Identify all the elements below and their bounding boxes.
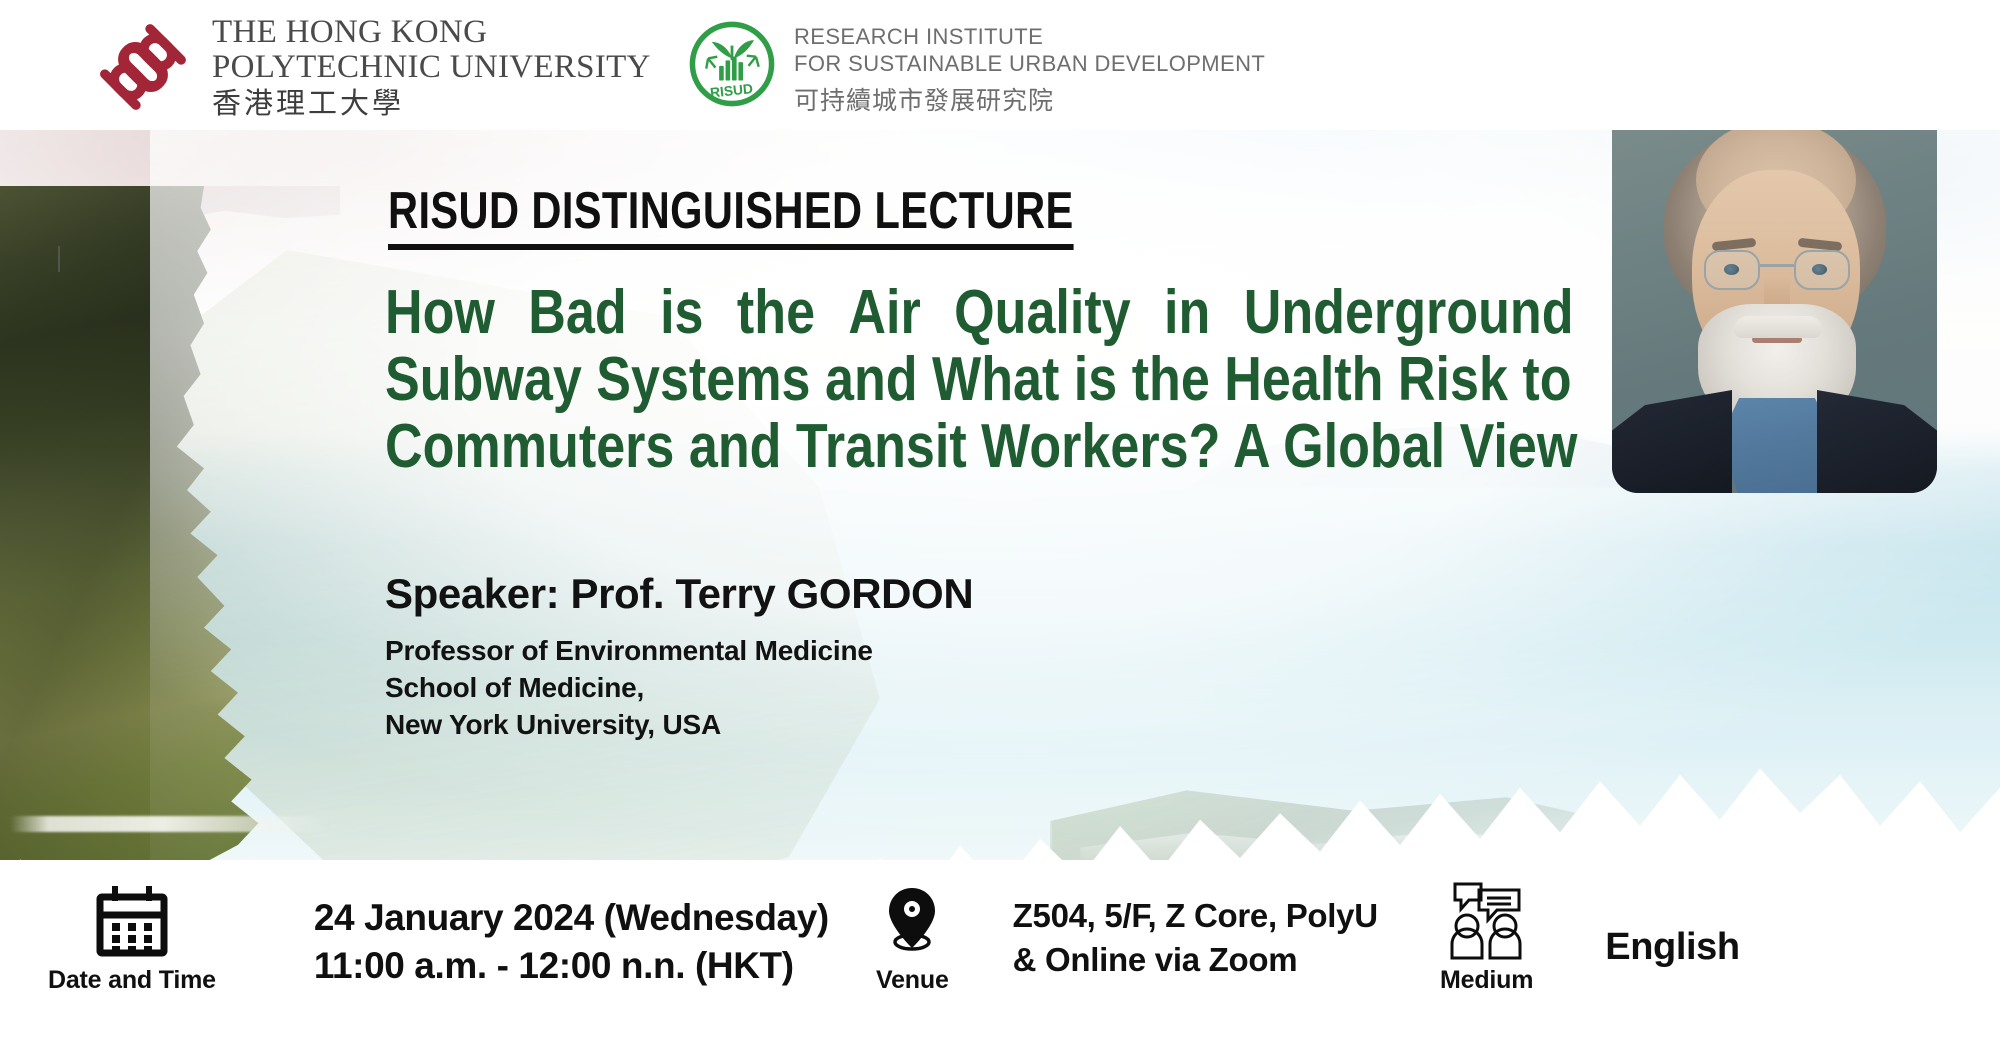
lecture-title-line-3: Commuters and Transit Workers? A Global … <box>385 414 1385 481</box>
medium-label: Medium <box>1440 966 1533 995</box>
title-word: the <box>737 280 815 347</box>
portrait-eyeglass-left <box>1704 250 1760 290</box>
map-pin-icon <box>880 882 944 960</box>
portrait-jacket-right <box>1817 390 1937 493</box>
speaker-affiliation-line-2: School of Medicine, <box>385 670 873 707</box>
risud-wordmark: RESEARCH INSTITUTE FOR SUSTAINABLE URBAN… <box>794 18 1265 117</box>
venue-value: Z504, 5/F, Z Core, PolyU & Online via Zo… <box>1013 894 1378 981</box>
portrait-jacket-left <box>1612 390 1732 493</box>
title-word: Underground <box>1244 280 1574 347</box>
polyu-name-line1: THE HONG KONG <box>212 16 651 49</box>
polyu-wordmark: THE HONG KONG POLYTECHNIC UNIVERSITY 香港理… <box>212 16 651 118</box>
speaker-portrait-photo <box>1612 98 1937 493</box>
portrait-moustache <box>1734 316 1822 338</box>
two-people-speech-icon <box>1443 878 1531 960</box>
venue-line-2: & Online via Zoom <box>1013 938 1378 982</box>
header-band: THE HONG KONG POLYTECHNIC UNIVERSITY 香港理… <box>0 0 2000 130</box>
polyu-knot-logo-icon <box>92 17 194 117</box>
speaker-name: Speaker: Prof. Terry GORDON <box>385 570 973 618</box>
venue-line-1: Z504, 5/F, Z Core, PolyU <box>1013 894 1378 938</box>
portrait-eyeglass-right <box>1794 250 1850 290</box>
title-word: Quality <box>954 280 1131 347</box>
risud-branding[interactable]: RISUD RESEARCH INSTITUTE FOR SUSTAINABLE… <box>686 18 1265 117</box>
title-word: Bad <box>528 280 626 347</box>
speaker-affiliation-line-1: Professor of Environmental Medicine <box>385 633 873 670</box>
datetime-value: 24 January 2024 (Wednesday) 11:00 a.m. -… <box>314 894 829 990</box>
footer-venue-group: Venue Z504, 5/F, Z Core, PolyU & Online … <box>876 882 1378 995</box>
speaker-affiliation: Professor of Environmental Medicine Scho… <box>385 633 873 744</box>
medium-icon-block: Medium <box>1440 878 1533 995</box>
polyu-branding[interactable]: THE HONG KONG POLYTECHNIC UNIVERSITY 香港理… <box>92 16 651 118</box>
lecture-poster: THE HONG KONG POLYTECHNIC UNIVERSITY 香港理… <box>0 0 2000 1050</box>
title-word: is <box>660 280 703 347</box>
lecture-title: How Bad is the Air Quality in Undergroun… <box>385 280 1575 481</box>
venue-icon-block: Venue <box>876 882 949 995</box>
datetime-line-2: 11:00 a.m. - 12:00 n.n. (HKT) <box>314 942 829 990</box>
footer-datetime-group: Date and Time 24 January 2024 (Wednesday… <box>48 884 829 995</box>
datetime-label: Date and Time <box>48 966 216 995</box>
polyu-name-chinese: 香港理工大學 <box>212 89 651 118</box>
title-word: How <box>385 280 495 347</box>
datetime-icon-block: Date and Time <box>48 884 216 995</box>
lecture-title-line-2: Subway Systems and What is the Health Ri… <box>385 347 1385 414</box>
risud-name-line1: RESEARCH INSTITUTE <box>794 24 1265 51</box>
medium-value: English <box>1605 926 1739 969</box>
footer-info-bar: Date and Time 24 January 2024 (Wednesday… <box>0 860 2000 1050</box>
speaker-affiliation-line-3: New York University, USA <box>385 707 873 744</box>
venue-label: Venue <box>876 966 949 995</box>
risud-name-chinese: 可持續城市發展研究院 <box>794 81 1265 117</box>
risud-circle-logo-icon: RISUD <box>686 18 778 110</box>
calendar-icon <box>93 884 171 960</box>
title-word: in <box>1164 280 1210 347</box>
portrait-eyeglass-bridge <box>1760 264 1794 267</box>
risud-name-line2: FOR SUSTAINABLE URBAN DEVELOPMENT <box>794 51 1265 78</box>
lecture-title-line-1: How Bad is the Air Quality in Undergroun… <box>385 280 1574 347</box>
datetime-line-1: 24 January 2024 (Wednesday) <box>314 894 829 942</box>
title-word: Air <box>848 280 920 347</box>
polyu-name-line2: POLYTECHNIC UNIVERSITY <box>212 51 651 84</box>
lecture-series-kicker: RISUD DISTINGUISHED LECTURE <box>388 185 1074 250</box>
footer-medium-group: Medium English <box>1440 878 1740 995</box>
